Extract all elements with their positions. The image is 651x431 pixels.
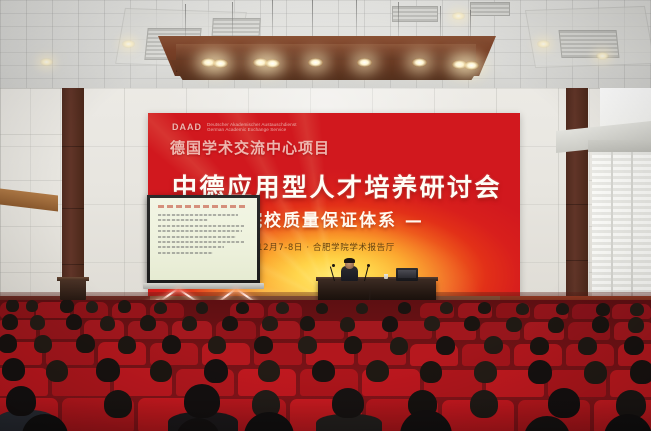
organizer-chinese-name: 德国学术交流中心项目: [170, 137, 330, 158]
soffit-hanger: [185, 4, 186, 40]
auditorium-photo: DAAD Deutscher Akademischer Austauschdie…: [0, 0, 651, 431]
recessed-light: [596, 52, 609, 60]
daad-logo: DAAD: [172, 122, 202, 132]
soffit-downlight: [412, 58, 427, 67]
soffit-hanger: [398, 2, 399, 38]
soffit-downlight: [357, 58, 372, 67]
ceiling-vent: [559, 30, 620, 58]
soffit-downlight: [265, 59, 280, 68]
wood-wall-trim: [0, 188, 58, 211]
soffit-hanger: [440, 6, 441, 40]
slide-text-lines: [158, 214, 249, 257]
audience-seating: [0, 300, 651, 431]
soffit-downlight: [213, 59, 228, 68]
daad-logo-row: DAAD Deutscher Akademischer Austauschdie…: [172, 122, 315, 133]
projection-screen: [147, 195, 260, 283]
cup: [384, 274, 388, 279]
soffit-hanger: [232, 2, 233, 38]
microphone-head: [332, 264, 335, 267]
soffit-hanger: [312, 0, 313, 38]
projection-screen-bottom-bar: [143, 283, 264, 289]
monitor-screen: [398, 270, 416, 278]
soffit-hanger: [356, 0, 357, 38]
side-lectern: [60, 280, 86, 300]
soffit-downlight: [464, 61, 479, 70]
recessed-light: [40, 58, 53, 66]
recessed-light: [122, 40, 135, 48]
soffit-downlight: [308, 58, 323, 67]
right-column: [566, 88, 588, 320]
microphone-head: [367, 264, 370, 267]
projection-screen-surface: [150, 198, 257, 280]
window-header: [588, 140, 651, 152]
speaker-hair: [344, 258, 355, 263]
daad-subtitle: Deutscher Akademischer Austauschdienst G…: [207, 122, 315, 133]
recessed-light: [452, 12, 465, 20]
recessed-light: [537, 40, 550, 48]
soffit-hanger: [272, 0, 273, 38]
ceiling-vent: [470, 2, 510, 16]
slide-heading-line: [158, 205, 247, 208]
left-side-wall: [0, 88, 62, 320]
